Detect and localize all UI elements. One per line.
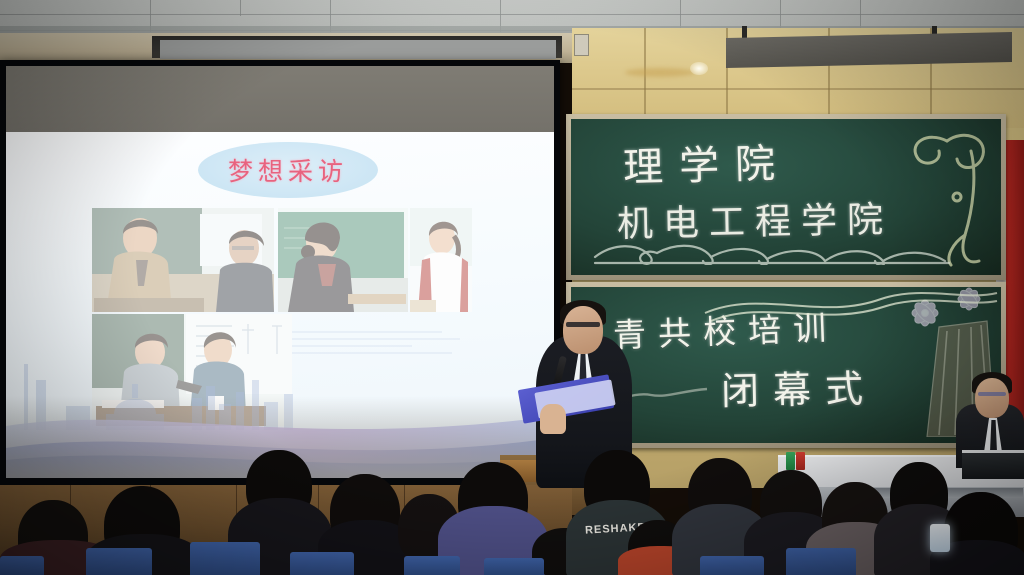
auditorium-chair: [86, 548, 152, 575]
slide-title-text: 梦想采访: [228, 152, 348, 188]
blackboard-line-1: 理学院: [622, 131, 791, 193]
lecture-hall-photo: 理学院 机电工程学院: [0, 0, 1024, 575]
seated-official-glasses-icon: [978, 392, 1006, 396]
wall-light-reflection: [690, 62, 708, 75]
laptop: [962, 450, 1024, 479]
auditorium-chair: [484, 558, 544, 575]
blackboard-line-4: 闭幕式: [721, 358, 878, 416]
smartphone-screen: [930, 524, 950, 552]
upper-blackboard: 理学院 机电工程学院: [566, 114, 1006, 280]
slide-photo-3: [410, 208, 472, 312]
wall-seam-horizontal: [572, 88, 1024, 90]
speaker-head: [563, 306, 603, 354]
slide-photo-1: [92, 208, 274, 312]
lower-blackboard: 青共校培训 闭幕式: [566, 282, 1006, 448]
red-pen-cup: [796, 452, 805, 470]
hanging-light-bar: [726, 32, 1012, 68]
slide-title-bubble: 梦想采访: [198, 142, 378, 198]
chalk-wave-border: [593, 239, 953, 265]
screen-unlit-band: [6, 66, 554, 132]
auditorium-chair: [290, 552, 354, 575]
projection-screen: 梦想采访: [0, 60, 560, 485]
auditorium-chair: [786, 548, 856, 575]
speaker-hand: [540, 404, 566, 434]
valance-panel: [160, 40, 556, 59]
chalk-ribbon: [701, 287, 1001, 327]
wall-mounted-box: [574, 34, 589, 56]
wall-seam: [644, 28, 646, 128]
auditorium-chair: [700, 556, 764, 575]
green-pen-cup: [786, 452, 795, 470]
slide-photo-2: [278, 208, 408, 312]
auditorium-chair: [0, 556, 44, 575]
speaker-glasses-icon: [566, 322, 600, 327]
hanger-rod: [742, 26, 747, 38]
auditorium-chair: [404, 556, 460, 575]
slide-text-lines: [292, 328, 462, 358]
seated-official-head: [975, 378, 1009, 418]
wall-smudge: [625, 68, 695, 77]
auditorium-chair: [190, 542, 260, 575]
